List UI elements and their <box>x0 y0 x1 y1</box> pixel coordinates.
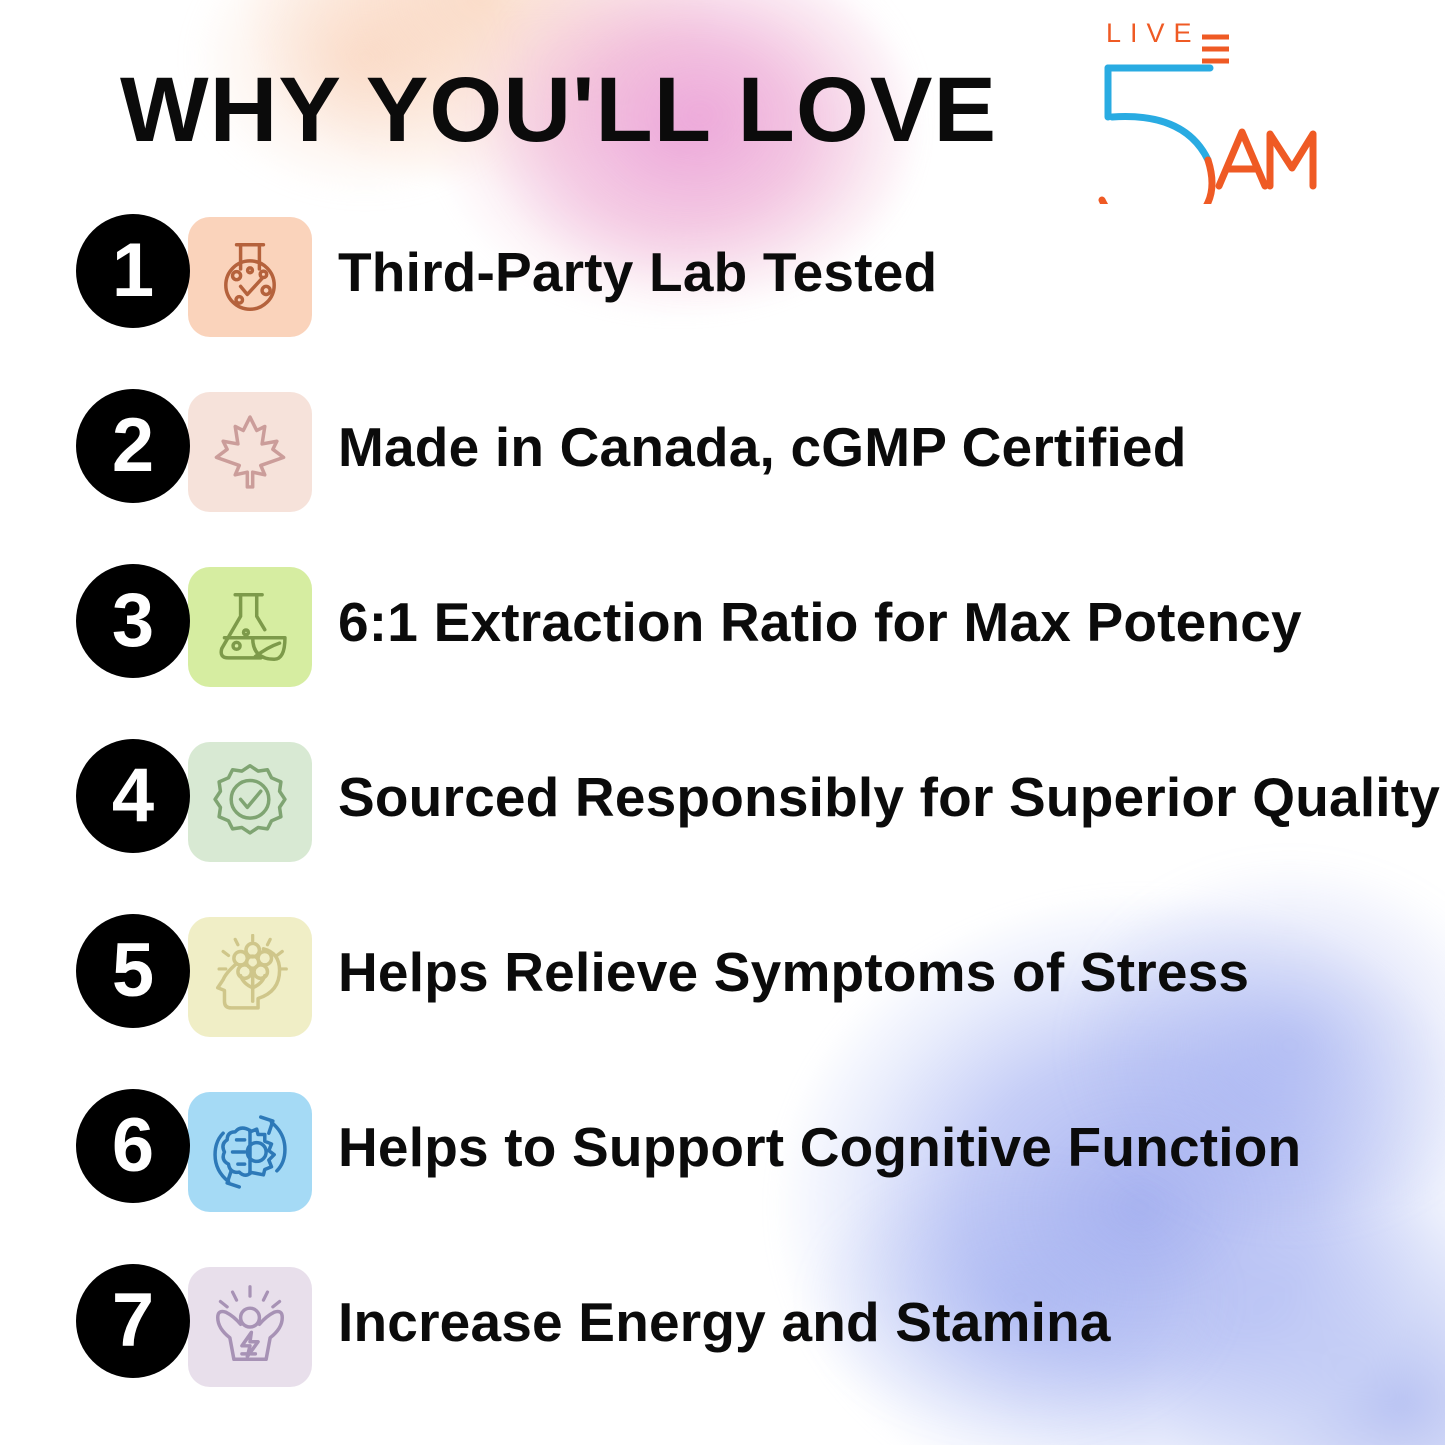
benefit-row-2: 2 Made in Canada, cGMP Certified <box>0 380 1445 555</box>
benefit-icon-tile <box>188 917 312 1037</box>
logo-am-letters <box>1219 132 1313 186</box>
benefit-icon-tile <box>188 742 312 862</box>
badge-check-icon <box>207 759 293 845</box>
maple-leaf-icon <box>207 409 293 495</box>
benefit-number-badge: 2 <box>76 389 190 503</box>
page-title: WHY YOU'LL LOVE <box>120 62 997 158</box>
benefit-label: Made in Canada, cGMP Certified <box>338 416 1187 478</box>
flask-round-check-icon <box>207 234 293 320</box>
promo-graphic: WHY YOU'LL LOVE LIVE <box>0 0 1445 1445</box>
benefit-icon-tile <box>188 1092 312 1212</box>
benefit-number-badge: 3 <box>76 564 190 678</box>
benefit-label: Helps to Support Cognitive Function <box>338 1116 1301 1178</box>
person-energy-icon <box>207 1284 293 1370</box>
benefit-number-badge: 6 <box>76 1089 190 1203</box>
benefit-row-6: 6 Helps to Support Cognitive Function <box>0 1080 1445 1255</box>
logo-live-text: LIVE <box>1106 18 1201 49</box>
benefit-icon-tile <box>188 1267 312 1387</box>
benefit-icon-tile <box>188 567 312 687</box>
benefits-list: 1 Third-Party Lab Tested 2 <box>0 205 1445 1415</box>
brain-gear-cycle-icon <box>207 1109 293 1195</box>
benefit-row-4: 4 Sourced Responsibly for Superior Quali… <box>0 730 1445 905</box>
benefit-label: Third-Party Lab Tested <box>338 241 937 303</box>
logo-e-bars <box>1202 37 1229 61</box>
benefit-icon-tile <box>188 392 312 512</box>
benefit-label: Helps Relieve Symptoms of Stress <box>338 941 1249 1003</box>
live-5am-logo: LIVE <box>1090 14 1340 204</box>
logo-five-upper-curve <box>1112 117 1208 160</box>
header: WHY YOU'LL LOVE LIVE <box>0 0 1445 210</box>
flask-leaf-icon <box>207 584 293 670</box>
benefit-row-1: 1 Third-Party Lab Tested <box>0 205 1445 380</box>
benefit-number-badge: 5 <box>76 914 190 1028</box>
benefit-row-5: 5 <box>0 905 1445 1080</box>
benefit-row-7: 7 Increase Energy an <box>0 1255 1445 1415</box>
benefit-number-badge: 7 <box>76 1264 190 1378</box>
benefit-icon-tile <box>188 217 312 337</box>
benefit-number-badge: 1 <box>76 214 190 328</box>
head-flower-icon <box>207 934 293 1020</box>
benefit-label: 6:1 Extraction Ratio for Max Potency <box>338 591 1302 653</box>
benefit-number-badge: 4 <box>76 739 190 853</box>
benefit-row-3: 3 6:1 Extraction Ratio for Max Potency <box>0 555 1445 730</box>
benefit-label: Sourced Responsibly for Superior Quality <box>338 766 1440 828</box>
logo-five-lower-bowl <box>1102 160 1212 204</box>
benefit-label: Increase Energy and Stamina <box>338 1291 1111 1353</box>
